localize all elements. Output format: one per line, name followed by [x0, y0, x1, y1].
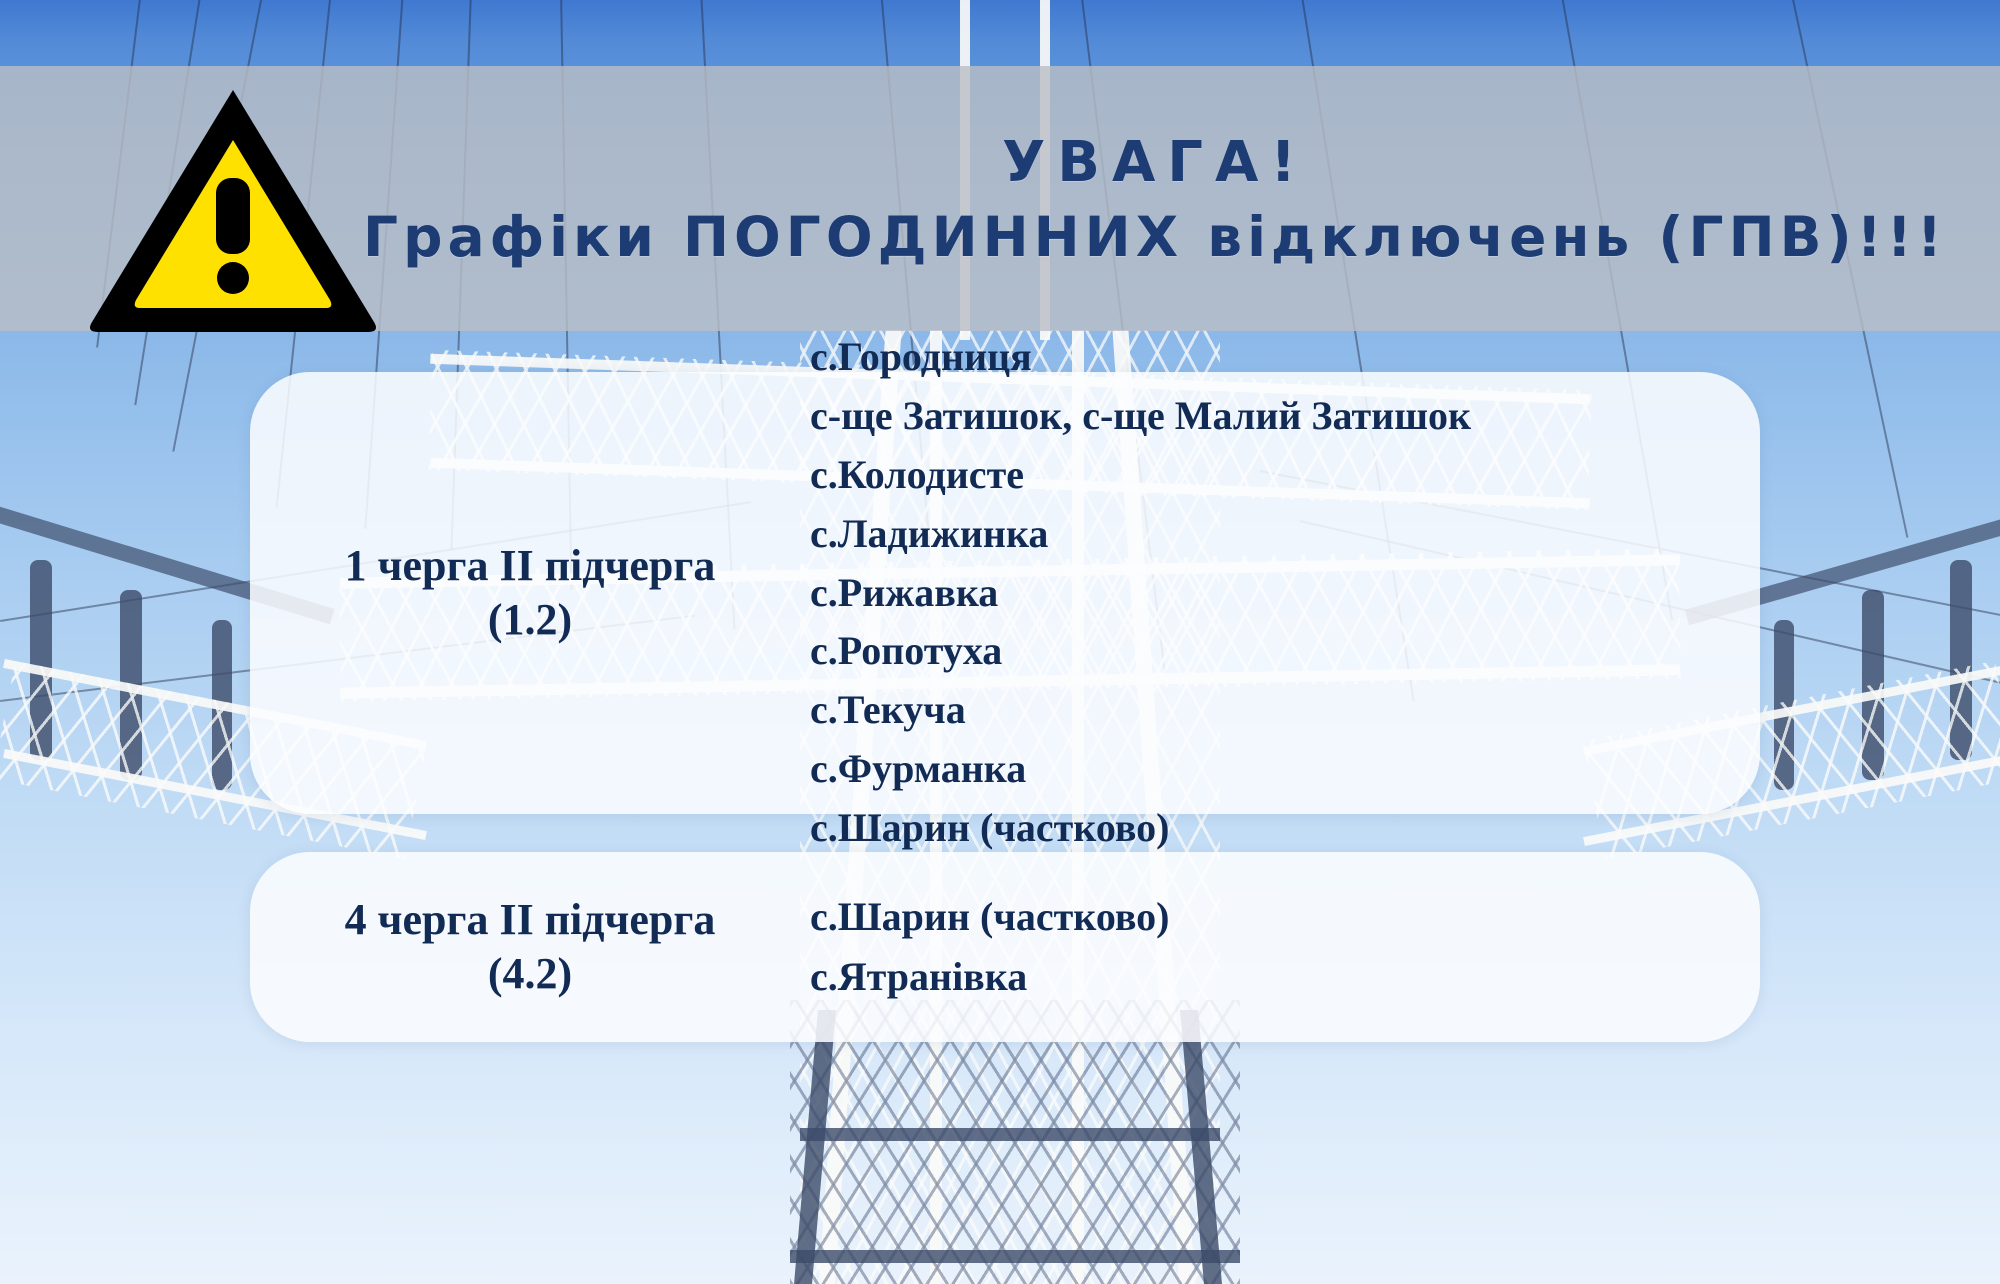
pylon-base-crossbeam — [790, 1250, 1240, 1263]
outage-group-label-main-1: 1 черга II підчерга — [345, 541, 716, 590]
list-item: с.Текуча — [810, 681, 1720, 740]
settlement-list-2: с.Шарин (частково) с.Ятранівка — [810, 887, 1760, 1007]
list-item: с.Рижавка — [810, 564, 1720, 623]
header-subtitle-schedules: Графіки ПОГОДИННИХ відключень (ГПВ)!!! — [363, 209, 1947, 267]
header-text-block: УВАГА! Графіки ПОГОДИННИХ відключень (ГП… — [310, 80, 2000, 320]
list-item: с.Городниця — [810, 328, 1720, 387]
list-item: с.Ладижинка — [810, 505, 1720, 564]
header-title-attention: УВАГА! — [1002, 134, 1308, 193]
outage-group-label-2: 4 черга II підчерга (4.2) — [250, 893, 810, 1000]
pylon-base-lattice — [790, 1000, 1240, 1284]
outage-group-label-main-2: 4 черга II підчерга — [345, 895, 716, 944]
outage-group-label-sub-2: (4.2) — [260, 947, 800, 1001]
outage-group-card-2: 4 черга II підчерга (4.2) с.Шарин (частк… — [250, 852, 1760, 1042]
list-item: с.Фурманка — [810, 740, 1720, 799]
list-item: с.Ятранівка — [810, 947, 1720, 1007]
list-item: с.Шарин (частково) — [810, 799, 1720, 858]
list-item: с.Шарин (частково) — [810, 887, 1720, 947]
outage-group-card-1: 1 черга II підчерга (1.2) с.Городниця с-… — [250, 372, 1760, 814]
poster-root: УВАГА! Графіки ПОГОДИННИХ відключень (ГП… — [0, 0, 2000, 1284]
pylon-base-crossbeam — [800, 1128, 1220, 1141]
list-item: с.Колодисте — [810, 446, 1720, 505]
outage-group-label-1: 1 черга II підчерга (1.2) — [250, 539, 810, 646]
list-item: с-ще Затишок, с-ще Малий Затишок — [810, 387, 1720, 446]
outage-group-label-sub-1: (1.2) — [260, 593, 800, 647]
settlement-list-1: с.Городниця с-ще Затишок, с-ще Малий Зат… — [810, 328, 1760, 857]
list-item: с.Ропотуха — [810, 622, 1720, 681]
